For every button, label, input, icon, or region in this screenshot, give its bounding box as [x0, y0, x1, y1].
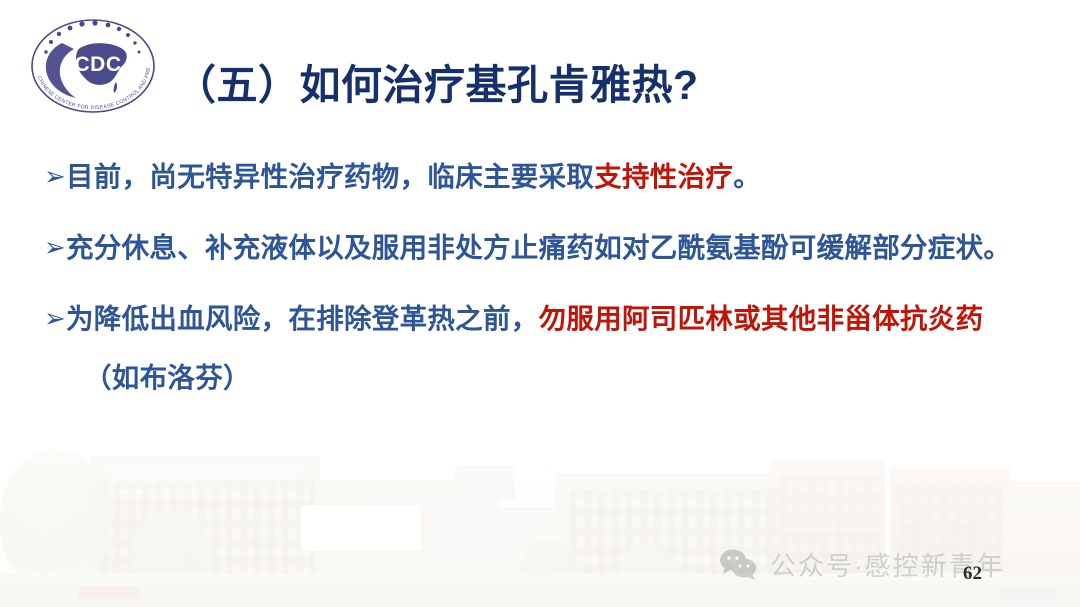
china-cdc-logo: CDC CHINESE CENTER FOR DISEASE CONTROL A…	[18, 8, 168, 126]
page-title: （五）如何治疗基孔肯雅热?	[175, 51, 699, 111]
bullet-segment: 目前，尚无特异性治疗药物，临床主要采取	[66, 161, 594, 192]
bullet-segment-emphasis: 支持性治疗	[594, 161, 733, 192]
bullet-text: 充分休息、补充液体以及服用非处方止痛药如对乙酰氨基酚可缓解部分症状。	[66, 229, 1011, 266]
wechat-icon	[718, 547, 760, 583]
photo-tree	[0, 449, 110, 589]
list-item: ➢ 为降低出血风险，在排除登革热之前，勿服用阿司匹林或其他非甾体抗炎药	[44, 300, 1064, 337]
photo-fade-overlay	[0, 407, 1080, 607]
svg-text:CDC: CDC	[75, 53, 122, 76]
list-item-continuation: （如布洛芬）	[44, 355, 1064, 395]
bullet-arrow-icon: ➢	[44, 230, 66, 265]
bullet-segment: 充分休息、补充液体以及服用非处方止痛药如对乙酰氨基酚可缓解部分症状。	[66, 232, 1011, 263]
photo-building	[770, 460, 885, 585]
photo-building	[380, 489, 500, 512]
list-item: ➢ 充分休息、补充液体以及服用非处方止痛药如对乙酰氨基酚可缓解部分症状。	[44, 229, 1064, 266]
photo-windows	[570, 489, 780, 581]
bullet-segment: 。	[733, 161, 761, 192]
slide: CDC CHINESE CENTER FOR DISEASE CONTROL A…	[0, 0, 1080, 607]
photo-building	[1000, 482, 1080, 587]
photo-building	[195, 480, 460, 583]
photo-building	[430, 508, 565, 581]
photo-building	[110, 464, 300, 495]
photo-windows	[898, 485, 1003, 581]
bullet-text: 为降低出血风险，在排除登革热之前，勿服用阿司匹林或其他非甾体抗炎药	[66, 300, 983, 337]
bullet-arrow-icon: ➢	[44, 159, 66, 194]
photo-road	[0, 594, 1080, 607]
page-number: 62	[963, 563, 982, 585]
photo-billboard	[300, 505, 422, 551]
bullet-segment-emphasis: 勿服用阿司匹林或其他非甾体抗炎药	[539, 303, 984, 334]
photo-windows	[100, 481, 315, 577]
watermark: 公众号·感控新青年	[718, 546, 1005, 583]
bullet-continuation-text: （如布洛芬）	[84, 355, 251, 395]
photo-tree	[620, 543, 675, 599]
photo-car	[1000, 586, 1058, 599]
photo-sky	[0, 407, 1080, 607]
bullet-segment: 为降低出血风险，在排除登革热之前，	[66, 303, 539, 334]
photo-building	[555, 474, 785, 585]
bullet-list: ➢ 目前，尚无特异性治疗药物，临床主要采取支持性治疗。 ➢ 充分休息、补充液体以…	[44, 158, 1064, 395]
bullet-arrow-icon: ➢	[44, 301, 66, 336]
photo-tree	[130, 511, 210, 597]
photo-building	[890, 468, 1010, 587]
photo-windows	[780, 475, 880, 579]
bullet-text: 目前，尚无特异性治疗药物，临床主要采取支持性治疗。	[66, 158, 761, 195]
photo-building	[455, 466, 515, 499]
photo-lawn	[0, 573, 1080, 607]
list-item: ➢ 目前，尚无特异性治疗药物，临床主要采取支持性治疗。	[44, 158, 1064, 195]
background-campus-photo	[0, 407, 1080, 607]
photo-tree	[520, 539, 580, 599]
photo-car	[78, 586, 140, 599]
photo-building	[90, 456, 320, 579]
